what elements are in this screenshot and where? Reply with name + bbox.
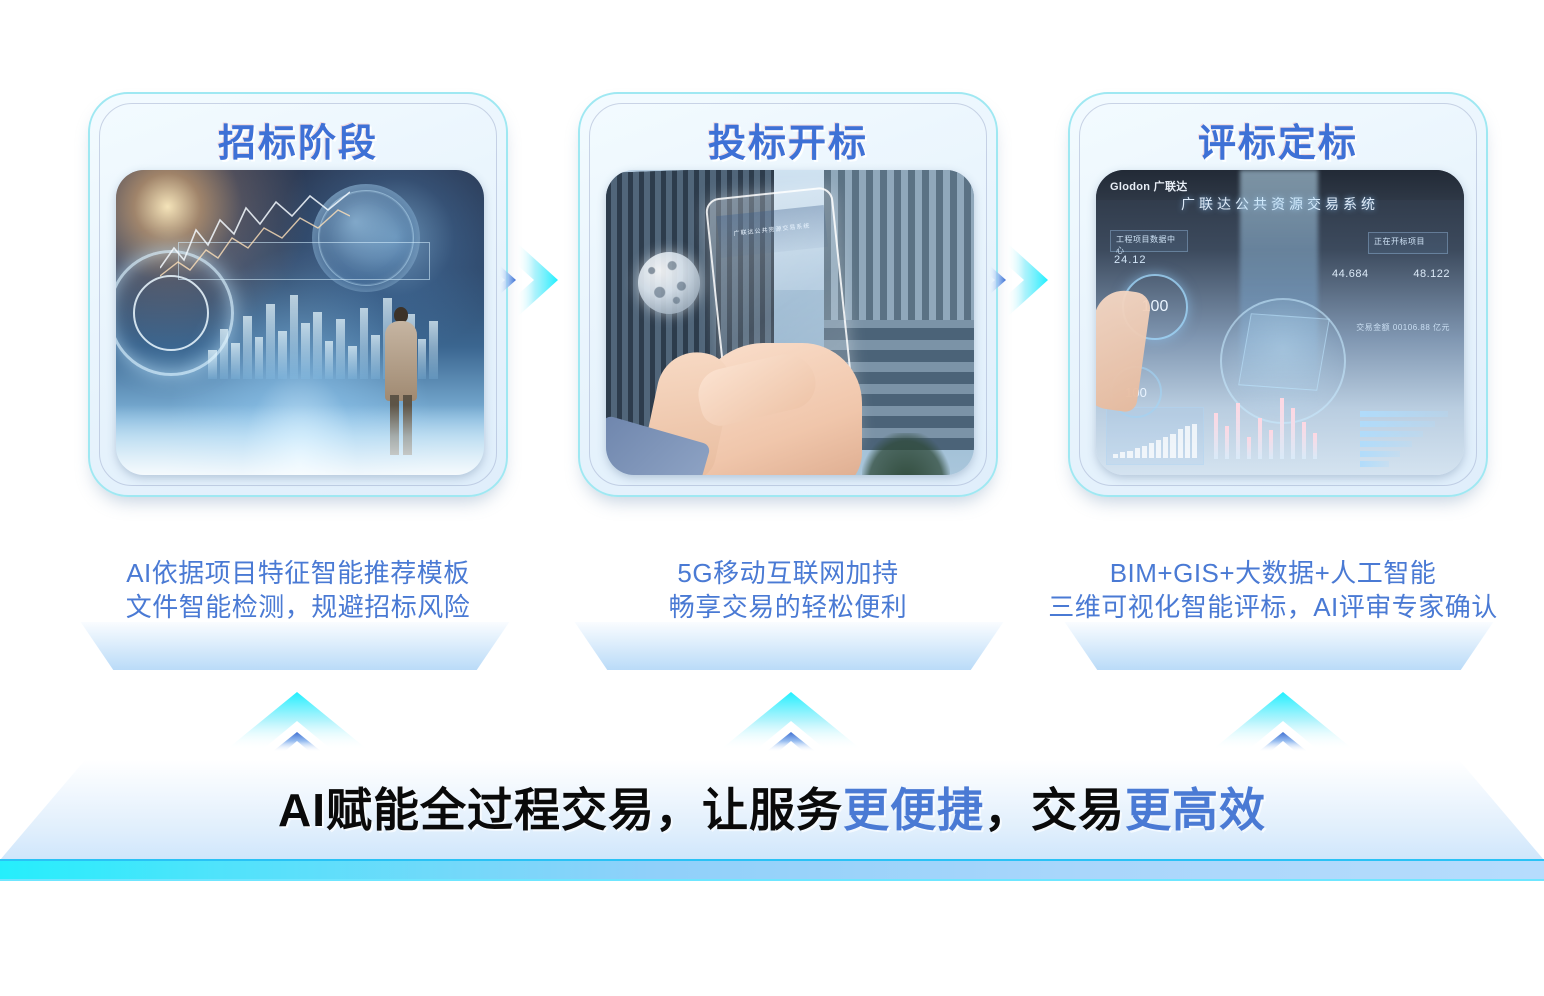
card-title: 招标阶段 [90,112,506,167]
caption-base-trapezoid [1046,622,1512,670]
card-title: 投标开标 [580,112,996,167]
line-graph-overlay [160,190,350,280]
banner-segment-1: AI赋能全过程交易，让服务 [278,784,843,836]
dashboard-left-panel-label: 工程项目数据中心 [1110,230,1188,252]
banner-segment-2-highlight: 更便捷 [843,784,984,836]
bim-3d-model [1238,313,1330,391]
chevron-right-double-icon [986,240,1074,320]
card-caption-evaluation: BIM+GIS+大数据+人工智能 三维可视化智能评标，AI评审专家确认 [1028,556,1518,624]
chevron-up-double-icon [1208,688,1358,754]
banner-segment-4-highlight: 更高效 [1125,784,1266,836]
dashboard-mini-chart [1106,407,1204,465]
dashboard-bar-chart [1214,395,1344,459]
chevron-up-double-icon [222,688,372,754]
process-card-bidding-stage[interactable]: 招标阶段 [88,92,508,497]
card-caption-bid-opening: 5G移动互联网加持 畅享交易的轻松便利 [578,556,998,624]
card-caption-bidding-stage: AI依据项目特征智能推荐模板 文件智能检测，规避招标风险 [78,556,518,624]
dashboard-left-panel-value: 24.12 [1114,254,1147,266]
card-photo-bid-opening: 广联达公共资源交易系统 [606,170,974,475]
ai-city-illustration [116,170,484,475]
banner-front-edge [0,859,1544,881]
caption-base-trapezoid [62,622,528,670]
hand-transparent-phone-photo: 广联达公共资源交易系统 [606,170,974,475]
dashboard-right-panel-label: 正在开标项目 [1368,232,1448,254]
chevron-right-small-icon [496,262,526,298]
chevron-up-large-icon [716,688,866,754]
chevron-up-large-icon [222,688,372,754]
dashboard-value-2: 48.122 [1413,268,1450,280]
glodon-logo: Glodon 广联达 [1110,178,1188,194]
chevron-up-large-icon [1208,688,1358,754]
slide-canvas: 招标阶段 [0,0,1544,996]
chevron-right-small-icon [986,262,1016,298]
dashboard-value-1: 44.684 [1332,268,1369,280]
card-photo-bidding-stage [116,170,484,475]
process-cards-row: 招标阶段 [0,92,1544,512]
caption-base-trapezoid [556,622,1022,670]
chevron-up-double-icon [716,688,866,754]
process-card-bid-opening[interactable]: 投标开标 广联达公共资源交易系统 [578,92,998,497]
phone-screen-header: 广联达公共资源交易系统 [716,205,828,258]
trading-system-dashboard-photo: Glodon 广联达 广联达公共资源交易系统 工程项目数据中心 24.12 正在… [1096,170,1464,475]
dashboard-right-values: 44.684 48.122 [1332,268,1450,280]
process-card-evaluation[interactable]: 评标定标 Glodon 广联达 广联达公共资源交易系统 工程项目数据中心 24.… [1068,92,1488,497]
dashboard-footnote: 交易金额 00106.88 亿元 [1356,322,1450,333]
banner-headline: AI赋能全过程交易，让服务更便捷，交易更高效 [0,774,1544,840]
floor-reflection [116,405,484,475]
summary-banner: AI赋能全过程交易，让服务更便捷，交易更高效 [0,760,1544,880]
card-photo-evaluation: Glodon 广联达 广联达公共资源交易系统 工程项目数据中心 24.12 正在… [1096,170,1464,475]
card-title: 评标定标 [1070,112,1486,167]
chevron-right-double-icon [496,240,584,320]
banner-segment-3: ，交易 [984,784,1125,836]
dashboard-rank-list [1360,405,1456,467]
